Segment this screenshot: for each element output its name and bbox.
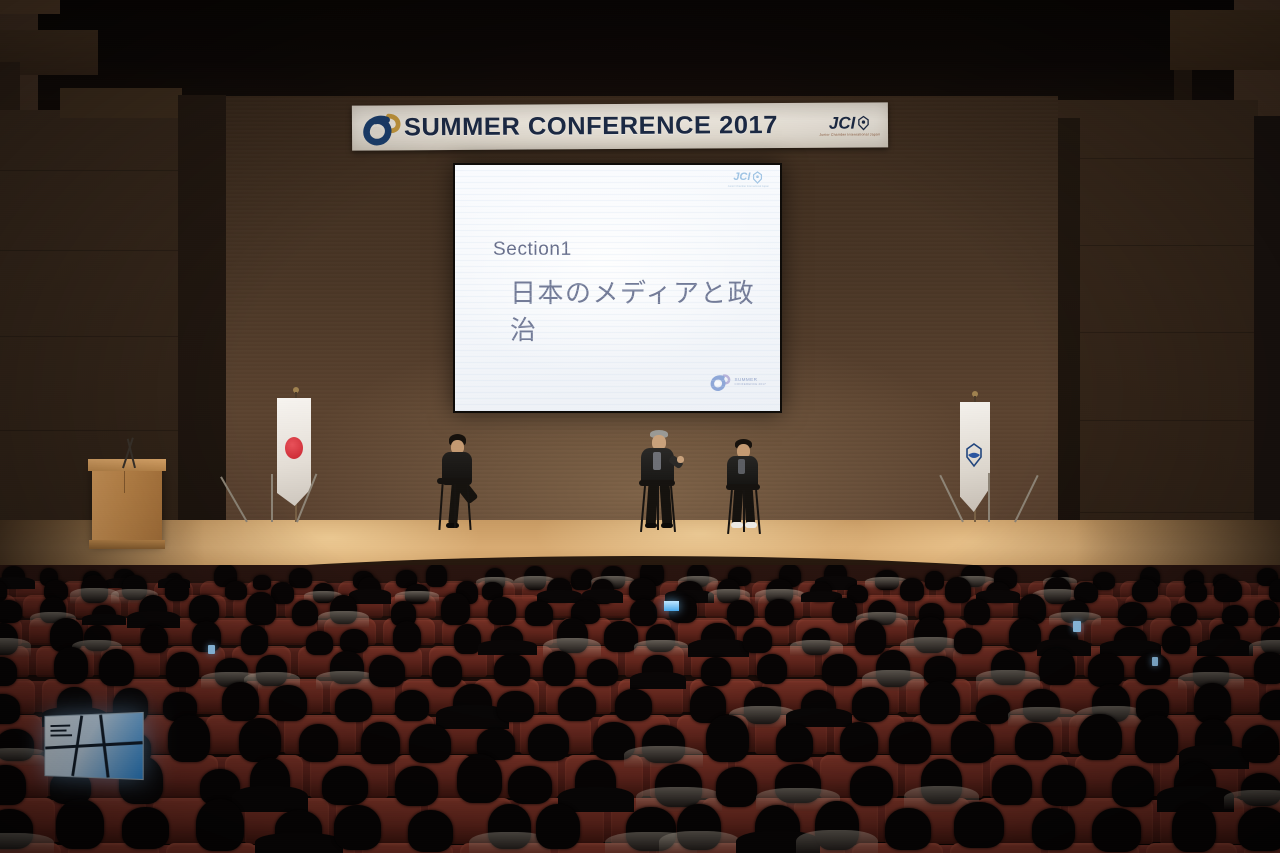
audience-member [141,625,168,654]
audience-member [322,766,368,806]
audience-member [361,722,400,764]
audience-member [757,654,787,684]
audience-member [1172,803,1215,851]
audience-member [239,718,282,762]
audience-member [604,621,638,651]
audience-member [289,568,312,588]
wall-panel-left-corner [0,0,60,14]
audience-member [992,765,1032,806]
audience-member [222,682,259,721]
audience-member [1254,652,1280,684]
audience-member [1269,579,1280,602]
wall-panel-left-ledge [60,88,182,118]
audience-member [727,600,754,625]
banner-title: SUMMER CONFERENCE 2017 [404,113,820,141]
audience-member-shoulders [1224,790,1280,809]
audience-member-shoulders [0,748,50,767]
audience-member-shoulders [688,639,750,657]
phone-screen [1152,657,1158,666]
wall-panel-right-upper [1170,10,1280,70]
audience-member [822,654,858,686]
audience-member [1039,648,1075,685]
audience-member [246,592,275,625]
audience-member [395,690,429,721]
auditorium-photo: SUMMER CONFERENCE 2017 JCI Junior Chambe… [0,0,1280,853]
audience-member [528,724,569,760]
laptop-screen [44,712,143,780]
audience-member [56,799,104,850]
audience-member [269,685,307,721]
audience-member [1132,579,1158,602]
phone-screen [208,645,215,654]
audience-member [832,598,857,623]
audience-member [409,724,451,763]
conference-banner: SUMMER CONFERENCE 2017 JCI Junior Chambe… [352,102,888,150]
audience-member [0,694,20,724]
audience-member [0,600,22,623]
audience-member [920,681,960,723]
audience-member [395,766,438,805]
audience-member [850,766,892,806]
audience-member [925,571,944,590]
flag-stand-left [246,470,302,522]
wall-panel-right-edge [1254,116,1280,586]
audience-member-shoulders [82,614,127,626]
audience-member [494,654,530,686]
flag-stand-right [962,470,1020,522]
audience-member [1185,582,1207,602]
audience-member [408,810,453,852]
audience-member-shoulders [1197,639,1253,656]
audience-member [558,687,596,721]
audience-member [1238,807,1280,851]
audience-member [334,805,382,850]
audience-member [1242,725,1279,763]
audience-member [1135,715,1178,762]
phone-screen [1073,621,1081,632]
slide-footer-logo-line2: CONFERENCE 2017 [734,383,766,386]
audience-member [189,595,219,624]
audience-member [426,565,447,587]
audience-member-shoulders [478,640,537,655]
summer-conference-swirl-icon [709,371,731,393]
audience-member [743,627,771,653]
audience-member [840,722,878,762]
audience-member-shoulders [624,746,703,768]
audience-member [945,577,971,603]
audience-member [630,599,657,626]
audience-member [497,691,533,722]
audience-member [168,715,210,762]
audience-member [571,569,592,589]
audience-member [165,579,189,601]
audience-member [369,655,405,687]
audience-member [976,695,1011,725]
audience-member [1015,723,1052,760]
audience-member [1032,808,1075,850]
audience-member [441,593,470,625]
projection-screen: JCI Junior Chamber International Japan S… [453,163,782,413]
audience-member [306,631,334,655]
audience-member [615,689,652,722]
audience-member [954,628,983,654]
banner-jci-abbr: JCI [829,114,856,131]
audience-member [1088,653,1124,687]
audience-member [1092,808,1141,852]
audience-member [525,601,553,625]
audience-member [122,807,169,850]
audience-member [889,722,931,764]
audience-area [0,565,1280,853]
audience-member-shoulders [634,640,688,656]
audience-member [765,599,794,626]
audience-member-shoulders [976,670,1040,690]
audience-member [340,629,368,653]
audience-member-shoulders [232,786,308,812]
audience-member-shoulders [790,640,843,655]
audience-member [488,597,516,625]
audience-member [299,724,338,762]
wall-panel-right-main [1058,100,1258,580]
audience-member [292,600,318,627]
audience-member [543,651,575,687]
slide-section-label: Section1 [493,239,572,261]
audience-member [587,659,618,686]
audience-member [192,621,222,652]
slide-jci-logo: JCI Junior Chamber International Japan [728,171,769,188]
audience-member [1162,626,1190,654]
audience-member [253,575,271,590]
audience-member-shoulders [0,638,31,657]
jci-flag-emblem [964,442,984,468]
jci-pin-icon [752,171,763,184]
audience-member-shoulders [796,830,877,853]
audience-member [432,656,462,687]
slide-jci-subtitle: Junior Chamber International Japan [728,185,769,188]
audience-member [225,581,246,600]
audience-member [1042,765,1086,806]
audience-member [1214,578,1241,601]
audience-member [457,754,503,803]
audience-member [855,620,886,654]
audience-member [99,649,134,687]
summer-conference-swirl-icon [360,111,402,145]
slide-jci-abbr: JCI [733,172,750,183]
ceiling-dark-band [0,0,1280,100]
audience-member-shoulders [900,637,961,658]
audience-member [536,804,581,849]
banner-jci-subtitle: Junior Chamber International Japan [819,132,880,136]
audience-member [852,687,889,722]
audience-member [196,799,244,851]
audience-member [951,721,994,762]
audience-member [54,647,88,684]
audience-member [393,621,422,652]
presentation-slide: JCI Junior Chamber International Japan S… [455,165,780,411]
audience-member [241,625,269,654]
audience-member [776,724,813,761]
slide-heading: 日本のメディアと政治 [510,273,780,347]
audience-member [716,767,758,806]
audience-member-shoulders [630,672,686,689]
audience-member [629,578,656,600]
audience-member [166,652,199,687]
audience-member [706,715,749,762]
audience-member [1112,766,1154,807]
audience-member [1078,714,1121,760]
wall-panel-left-recess [178,95,226,590]
audience-member [885,808,930,850]
audience-member-shoulders [0,833,54,853]
audience-member [1255,600,1279,626]
slide-footer-logo: SUMMER CONFERENCE 2017 [709,371,766,393]
audience-member [1171,603,1197,627]
audience-member [508,766,552,805]
audience-member [335,689,372,722]
audience-member [1194,683,1231,722]
audience-member [1118,602,1147,626]
audience-member-shoulders [318,611,368,627]
video-camera [664,601,679,611]
audience-member-shoulders [255,833,343,853]
banner-jci-logo: JCI Junior Chamber International Japan [819,114,880,136]
audience-member [964,599,990,626]
audience-member [954,802,1003,848]
audience-member [1260,690,1280,720]
audience-member [701,657,732,686]
audience-member-shoulders [659,831,740,853]
jci-pin-icon [857,115,870,130]
audience-member [900,578,924,601]
